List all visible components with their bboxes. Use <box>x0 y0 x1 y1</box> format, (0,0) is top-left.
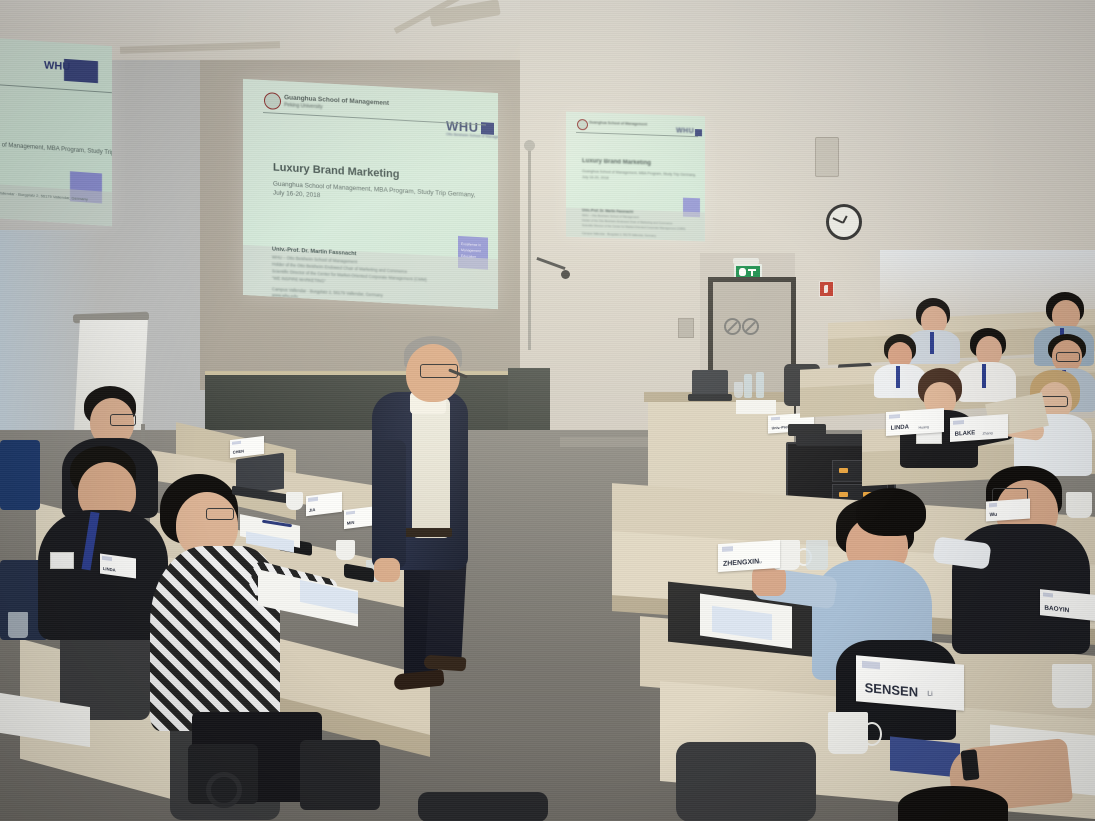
coffee-cup-foreground-2[interactable] <box>1052 664 1092 708</box>
badge-line-2: Management <box>461 248 481 253</box>
fire-alarm-icon <box>819 281 834 297</box>
name-card-wutu: Wu <box>986 498 1030 521</box>
wristwatch-icon <box>960 749 979 781</box>
name-card-text: BLAKE <box>955 430 976 437</box>
lecturer-belt <box>404 528 452 537</box>
name-card-surname: Liu <box>756 559 761 564</box>
projection-screen-main: Guanghua School of Management Peking Uni… <box>243 79 498 309</box>
name-card-text: MIN <box>347 520 355 526</box>
guanghua-logo-text-right: Guanghua School of Management <box>589 120 647 126</box>
slide-title-right: Luxury Brand Marketing <box>582 158 651 166</box>
name-card-text: BAOYIN <box>1044 604 1069 614</box>
bag-left <box>300 740 380 810</box>
glasses-icon-2 <box>206 508 234 520</box>
slide-left-subtitle: Guanghua School of Management, MBA Progr… <box>0 139 112 158</box>
glasses-icon-3 <box>1056 352 1080 362</box>
glasses-icon <box>110 414 136 426</box>
guanghua-seal-icon <box>264 92 281 110</box>
lecturer-arm <box>372 440 406 568</box>
name-card-surname: Huang <box>918 425 929 430</box>
screen-rod-knob <box>524 140 535 151</box>
wall-speaker <box>815 137 839 177</box>
wall-clock <box>826 204 862 240</box>
no-entry-icon-1 <box>724 318 741 335</box>
name-card-zhengxin: ZHENGXIN Liu <box>718 540 780 572</box>
wall-panel <box>678 318 694 338</box>
name-card-text: JIA <box>309 507 316 513</box>
lecturer-shirt <box>412 398 450 538</box>
lectern-glass[interactable] <box>734 382 743 398</box>
chair-foreground-mid <box>418 792 548 821</box>
badge-line-1: Excellence in <box>461 242 481 247</box>
name-card-surname: Li <box>927 690 932 697</box>
chair-left-1 <box>0 440 40 510</box>
water-glass-left-2[interactable] <box>8 612 28 638</box>
slide-subtitle-2-right: July 16-20, 2018 <box>582 175 609 180</box>
hand-zhengxin <box>752 566 786 596</box>
screen-pull-rod[interactable] <box>528 140 531 350</box>
water-glass-zhengxin[interactable] <box>806 540 828 570</box>
name-card-text: ZHENGXIN <box>723 558 759 568</box>
lecture-hall-photo: WHU Guanghua School of Management, MBA P… <box>0 0 1095 821</box>
name-card-text: CHEN <box>233 448 244 454</box>
water-bottle-2[interactable] <box>756 372 764 398</box>
no-entry-icon-2 <box>742 318 759 335</box>
chair-foreground-right <box>676 742 816 821</box>
projection-screen-right: Guanghua School of Management WHU Luxury… <box>566 112 705 242</box>
name-card-text: LINDA <box>103 566 116 573</box>
clock-hand-minute <box>832 218 843 224</box>
name-card-text: Wu <box>990 512 998 519</box>
projection-screen-left: WHU Guanghua School of Management, MBA P… <box>0 38 112 226</box>
name-card-text: LINDA <box>891 425 909 432</box>
lecturer-shoe-right <box>424 655 467 672</box>
lecturer-hand <box>374 558 400 582</box>
name-card-blake: BLAKE Zhang <box>950 414 1008 442</box>
coffee-cup-left-2[interactable] <box>336 540 355 560</box>
name-card-surname: Zhang <box>982 431 992 436</box>
cup-handle-icon-2 <box>862 722 882 746</box>
whu-logo-text-right: WHU <box>676 127 694 135</box>
slide-subtitle-2: July 16-20, 2018 <box>273 190 320 200</box>
guanghua-logo-sub: Peking University <box>284 102 323 110</box>
slide-title: Luxury Brand Marketing <box>273 162 400 181</box>
lectern-laptop[interactable] <box>692 370 728 396</box>
lectern-laptop-base[interactable] <box>688 394 732 401</box>
coffee-cup-left-1[interactable] <box>286 492 303 510</box>
name-card-linda: LINDA Huang <box>886 408 944 436</box>
chair-wheel-icon <box>206 772 242 808</box>
name-card-text: SENSEN <box>865 680 918 700</box>
name-card-sensen: SENSEN Li <box>856 655 964 710</box>
water-bottle-1[interactable] <box>744 374 752 398</box>
badge-card <box>50 552 74 569</box>
head-foreground-bottom <box>898 786 1008 821</box>
lectern-papers <box>736 400 776 414</box>
coffee-cup-baoyin[interactable] <box>1066 492 1092 518</box>
guanghua-seal-icon-right <box>577 119 588 130</box>
microphone-head-icon <box>561 270 570 279</box>
